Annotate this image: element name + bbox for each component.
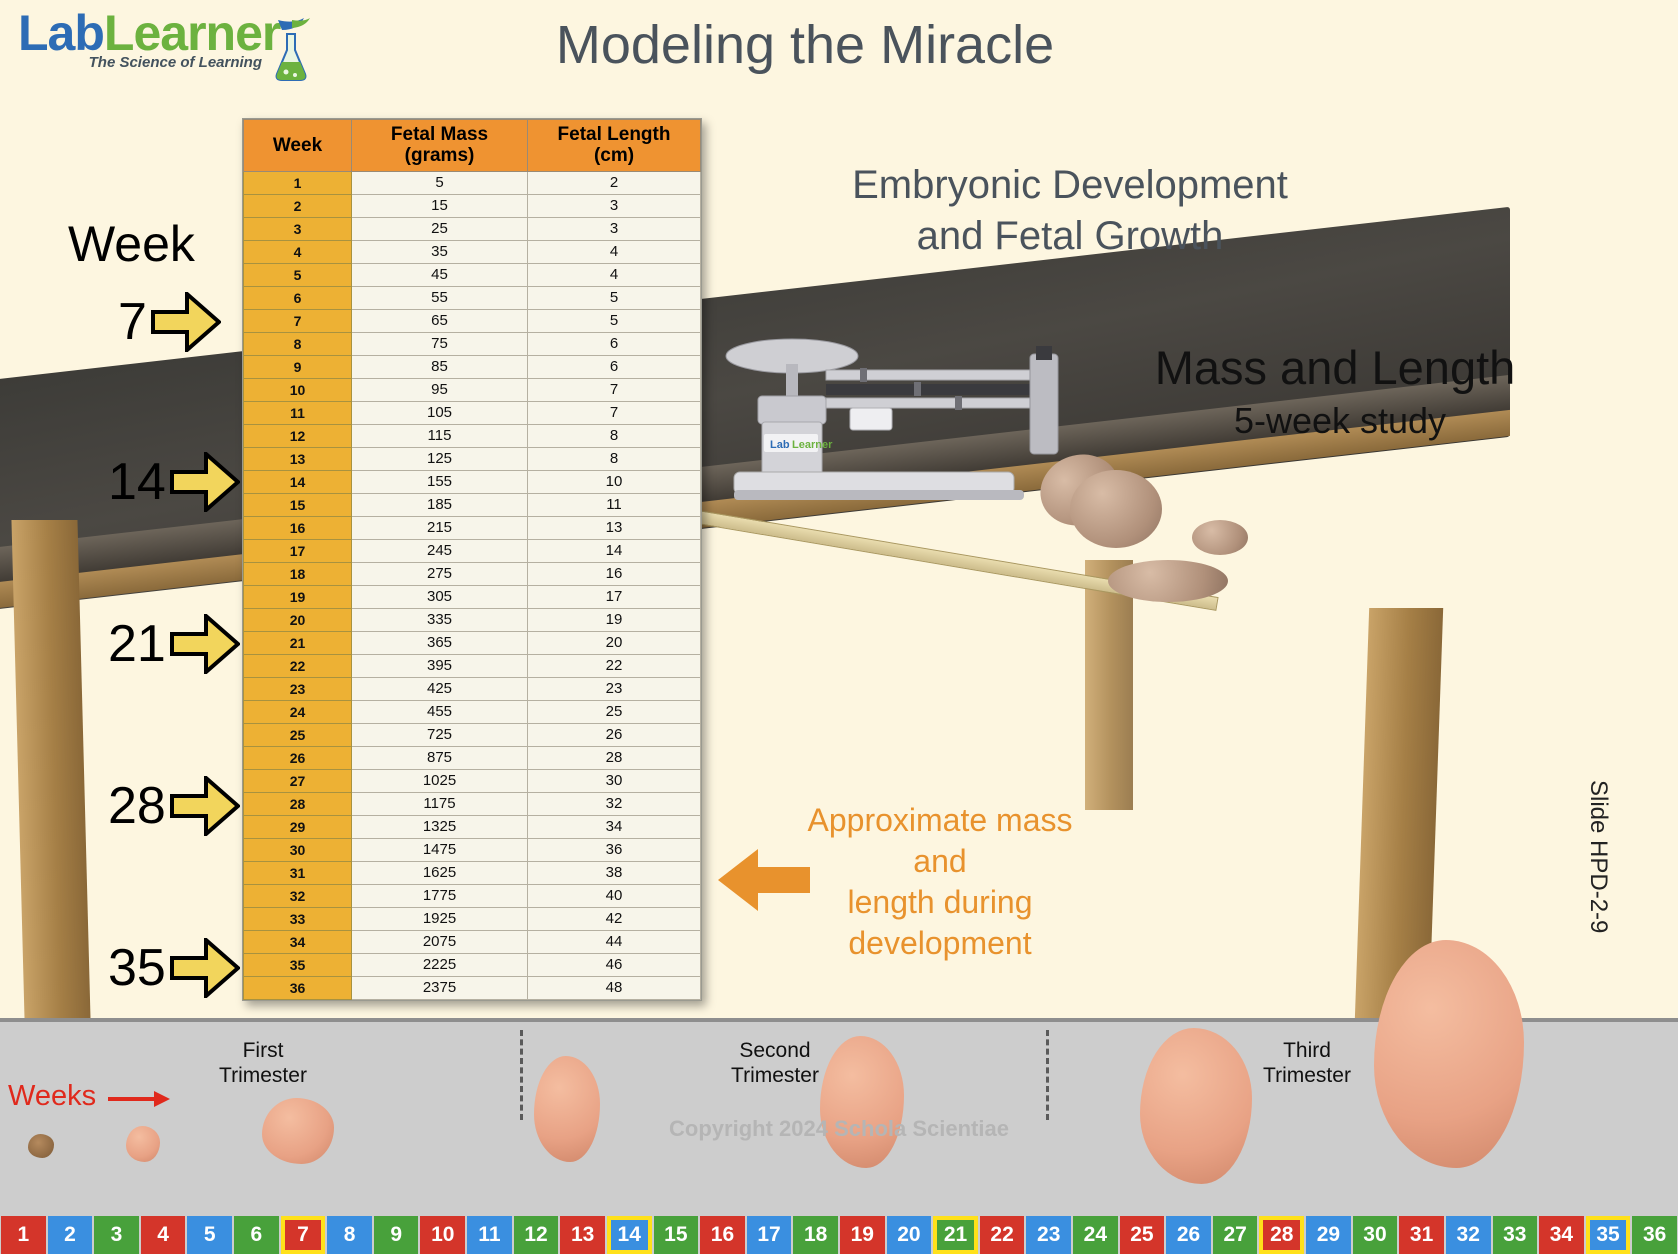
table-cell-mass: 125 <box>352 447 528 470</box>
specimen-rock <box>1192 520 1248 555</box>
table-cell-length: 38 <box>528 861 701 884</box>
table-cell-week: 30 <box>244 838 352 861</box>
table-row: 2342523 <box>244 677 701 700</box>
annotation-approximate-mass-length: Approximate mass and length during devel… <box>790 800 1090 964</box>
table-cell-length: 6 <box>528 355 701 378</box>
table-row: 28117532 <box>244 792 701 815</box>
table-cell-mass: 85 <box>352 355 528 378</box>
table-cell-week: 20 <box>244 608 352 631</box>
table-cell-length: 4 <box>528 240 701 263</box>
table-cell-length: 26 <box>528 723 701 746</box>
week-cell-10[interactable]: 10 <box>420 1216 465 1254</box>
table-cell-mass: 185 <box>352 493 528 516</box>
table-row: 8756 <box>244 332 701 355</box>
table-cell-week: 26 <box>244 746 352 769</box>
table-cell-week: 23 <box>244 677 352 700</box>
slide-code-label: Slide HPD-2-9 <box>1584 780 1612 933</box>
table-cell-length: 8 <box>528 424 701 447</box>
table-cell-mass: 55 <box>352 286 528 309</box>
table-cell-length: 22 <box>528 654 701 677</box>
subtitle-line-2: and Fetal Growth <box>790 211 1350 262</box>
table-row: 32177540 <box>244 884 701 907</box>
week-cell-8[interactable]: 8 <box>327 1216 372 1254</box>
table-cell-mass: 725 <box>352 723 528 746</box>
gestation-timeline: First Trimester Second Trimester Third T… <box>0 1018 1678 1254</box>
table-cell-length: 32 <box>528 792 701 815</box>
week-cell-3[interactable]: 3 <box>94 1216 139 1254</box>
week-cell-2[interactable]: 2 <box>48 1216 93 1254</box>
fetus-figure-week28 <box>1140 1028 1252 1184</box>
table-row: 35222546 <box>244 953 701 976</box>
table-row: 131258 <box>244 447 701 470</box>
table-cell-length: 5 <box>528 309 701 332</box>
right-arrow-icon <box>108 1090 170 1108</box>
table-cell-mass: 2375 <box>352 976 528 999</box>
trimester-label-first: First Trimester <box>178 1038 348 1088</box>
table-row: 2153 <box>244 194 701 217</box>
table-cell-length: 6 <box>528 332 701 355</box>
table-cell-week: 34 <box>244 930 352 953</box>
table-cell-week: 3 <box>244 217 352 240</box>
lablearner-logo: LabLearner The Science of Learning <box>18 8 318 90</box>
table-cell-week: 16 <box>244 516 352 539</box>
table-cell-mass: 15 <box>352 194 528 217</box>
table-cell-length: 5 <box>528 286 701 309</box>
table-row: 27102530 <box>244 769 701 792</box>
table-cell-week: 13 <box>244 447 352 470</box>
table-cell-week: 1 <box>244 171 352 194</box>
table-row: 1827516 <box>244 562 701 585</box>
table-row: 2687528 <box>244 746 701 769</box>
table-cell-week: 33 <box>244 907 352 930</box>
table-cell-length: 2 <box>528 171 701 194</box>
table-cell-week: 4 <box>244 240 352 263</box>
table-cell-length: 14 <box>528 539 701 562</box>
table-cell-week: 17 <box>244 539 352 562</box>
table-cell-week: 18 <box>244 562 352 585</box>
right-arrow-icon <box>151 292 221 352</box>
table-cell-length: 19 <box>528 608 701 631</box>
svg-text:Lab: Lab <box>770 439 790 451</box>
table-cell-length: 20 <box>528 631 701 654</box>
table-cell-mass: 875 <box>352 746 528 769</box>
week-cell-24[interactable]: 24 <box>1073 1216 1118 1254</box>
table-header-row: Week Fetal Mass (grams) Fetal Length (cm… <box>244 120 701 172</box>
table-cell-mass: 305 <box>352 585 528 608</box>
week-cell-27[interactable]: 27 <box>1213 1216 1258 1254</box>
logo-lab-text: Lab <box>18 5 104 61</box>
week-cell-1[interactable]: 1 <box>1 1216 46 1254</box>
table-cell-mass: 65 <box>352 309 528 332</box>
week-callout-28: 28 <box>108 776 240 836</box>
table-row: 3253 <box>244 217 701 240</box>
table-cell-mass: 115 <box>352 424 528 447</box>
table-cell-mass: 335 <box>352 608 528 631</box>
heading-mass-and-length: Mass and Length <box>1120 340 1550 395</box>
week-cell-18[interactable]: 18 <box>793 1216 838 1254</box>
week-cell-21[interactable]: 21 <box>933 1216 978 1254</box>
trimester-divider <box>520 1030 523 1120</box>
table-cell-week: 27 <box>244 769 352 792</box>
table-cell-mass: 215 <box>352 516 528 539</box>
week-callout-number: 14 <box>108 456 166 508</box>
table-cell-week: 8 <box>244 332 352 355</box>
week-cell-17[interactable]: 17 <box>747 1216 792 1254</box>
specimen-rock <box>1108 560 1228 602</box>
week-callout-number: 21 <box>108 618 166 670</box>
page-title: Modeling the Miracle <box>505 14 1105 76</box>
table-row: 1724514 <box>244 539 701 562</box>
table-cell-week: 7 <box>244 309 352 332</box>
right-arrow-icon <box>170 614 240 674</box>
table-cell-length: 30 <box>528 769 701 792</box>
table-cell-length: 16 <box>528 562 701 585</box>
week-number-strip: 1234567891011121314151617181920212223242… <box>0 1216 1678 1254</box>
week-cell-11[interactable]: 11 <box>467 1216 512 1254</box>
table-cell-week: 2 <box>244 194 352 217</box>
table-cell-length: 40 <box>528 884 701 907</box>
trimester-divider <box>1046 1030 1049 1120</box>
table-cell-week: 5 <box>244 263 352 286</box>
week-callout-14: 14 <box>108 452 240 512</box>
table-cell-length: 25 <box>528 700 701 723</box>
week-cell-15[interactable]: 15 <box>654 1216 699 1254</box>
table-row: 1518511 <box>244 493 701 516</box>
slide-canvas: Lab Learner LabLearner The Science of Le… <box>0 0 1678 1254</box>
week-cell-12[interactable]: 12 <box>514 1216 559 1254</box>
table-cell-week: 12 <box>244 424 352 447</box>
table-cell-mass: 25 <box>352 217 528 240</box>
table-cell-length: 8 <box>528 447 701 470</box>
copyright-text: Copyright 2024 Schola Scientiae <box>0 1116 1678 1142</box>
table-cell-week: 9 <box>244 355 352 378</box>
week-cell-28[interactable]: 28 <box>1259 1216 1304 1254</box>
table-row: 9856 <box>244 355 701 378</box>
table-cell-mass: 1175 <box>352 792 528 815</box>
column-header-mass-line2: (grams) <box>354 145 525 166</box>
table-cell-length: 42 <box>528 907 701 930</box>
fetus-figure-week20 <box>820 1036 904 1168</box>
right-arrow-icon <box>170 938 240 998</box>
week-cell-13[interactable]: 13 <box>560 1216 605 1254</box>
table-cell-mass: 5 <box>352 171 528 194</box>
table-cell-week: 28 <box>244 792 352 815</box>
table-cell-mass: 95 <box>352 378 528 401</box>
table-cell-mass: 155 <box>352 470 528 493</box>
table-cell-length: 7 <box>528 401 701 424</box>
table-cell-mass: 1625 <box>352 861 528 884</box>
table-cell-week: 32 <box>244 884 352 907</box>
table-cell-length: 23 <box>528 677 701 700</box>
week-callout-number: 28 <box>108 780 166 832</box>
table-cell-week: 31 <box>244 861 352 884</box>
fetus-figure-week13 <box>534 1056 600 1162</box>
table-cell-length: 7 <box>528 378 701 401</box>
table-cell-mass: 1325 <box>352 815 528 838</box>
week-cell-14[interactable]: 14 <box>607 1216 652 1254</box>
table-cell-length: 4 <box>528 263 701 286</box>
table-cell-week: 35 <box>244 953 352 976</box>
column-header-length-line2: (cm) <box>530 145 698 166</box>
table-row: 30147536 <box>244 838 701 861</box>
table-cell-mass: 75 <box>352 332 528 355</box>
week-cell-30[interactable]: 30 <box>1353 1216 1398 1254</box>
table-row: 31162538 <box>244 861 701 884</box>
week-cell-7[interactable]: 7 <box>281 1216 326 1254</box>
heading-study-duration: 5-week study <box>1190 400 1490 442</box>
right-arrow-icon <box>170 776 240 836</box>
week-cell-29[interactable]: 29 <box>1306 1216 1351 1254</box>
logo-learner-text: Learner <box>104 5 280 61</box>
table-row: 1415510 <box>244 470 701 493</box>
week-callout-number: 7 <box>118 296 147 348</box>
table-cell-week: 15 <box>244 493 352 516</box>
week-cell-20[interactable]: 20 <box>887 1216 932 1254</box>
table-row: 2572526 <box>244 723 701 746</box>
weeks-axis-label: Weeks <box>8 1080 96 1113</box>
week-callout-title: Week <box>68 215 195 273</box>
week-cell-26[interactable]: 26 <box>1166 1216 1211 1254</box>
week-callout-number: 35 <box>108 942 166 994</box>
table-cell-mass: 1775 <box>352 884 528 907</box>
table-leg-back <box>1085 560 1133 810</box>
annotation-line-3: development <box>790 923 1090 964</box>
week-cell-25[interactable]: 25 <box>1120 1216 1165 1254</box>
week-cell-36[interactable]: 36 <box>1632 1216 1677 1254</box>
table-cell-week: 10 <box>244 378 352 401</box>
table-body: 1522153325343545454655576558756985610957… <box>244 171 701 999</box>
table-row: 2445525 <box>244 700 701 723</box>
week-callout-35: 35 <box>108 938 240 998</box>
fetal-growth-table: Week Fetal Mass (grams) Fetal Length (cm… <box>242 118 702 1001</box>
week-cell-33[interactable]: 33 <box>1493 1216 1538 1254</box>
column-header-length-line1: Fetal Length <box>530 124 698 145</box>
table-cell-length: 11 <box>528 493 701 516</box>
table-cell-mass: 35 <box>352 240 528 263</box>
table-row: 4354 <box>244 240 701 263</box>
table-cell-length: 46 <box>528 953 701 976</box>
table-cell-week: 22 <box>244 654 352 677</box>
table-row: 33192542 <box>244 907 701 930</box>
week-cell-5[interactable]: 5 <box>187 1216 232 1254</box>
subtitle-line-1: Embryonic Development <box>790 160 1350 211</box>
column-header-fetal-length: Fetal Length (cm) <box>528 120 701 172</box>
table-cell-mass: 1025 <box>352 769 528 792</box>
week-cell-23[interactable]: 23 <box>1026 1216 1071 1254</box>
table-cell-week: 29 <box>244 815 352 838</box>
table-row: 2239522 <box>244 654 701 677</box>
triple-beam-balance: Lab Learner <box>700 330 1120 530</box>
table-cell-mass: 455 <box>352 700 528 723</box>
table-leg-left <box>11 520 90 1020</box>
table-cell-length: 28 <box>528 746 701 769</box>
table-cell-length: 48 <box>528 976 701 999</box>
table-cell-mass: 2075 <box>352 930 528 953</box>
table-cell-mass: 365 <box>352 631 528 654</box>
table-row: 6555 <box>244 286 701 309</box>
table-cell-week: 25 <box>244 723 352 746</box>
week-cell-31[interactable]: 31 <box>1399 1216 1444 1254</box>
week-cell-35[interactable]: 35 <box>1586 1216 1631 1254</box>
table-row: 29132534 <box>244 815 701 838</box>
subtitle-embryonic-development: Embryonic Development and Fetal Growth <box>790 160 1350 262</box>
table-cell-length: 3 <box>528 217 701 240</box>
table-cell-week: 14 <box>244 470 352 493</box>
table-cell-mass: 1925 <box>352 907 528 930</box>
table-cell-mass: 245 <box>352 539 528 562</box>
table-cell-mass: 2225 <box>352 953 528 976</box>
table-cell-mass: 1475 <box>352 838 528 861</box>
table-row: 34207544 <box>244 930 701 953</box>
table-cell-mass: 105 <box>352 401 528 424</box>
table-cell-week: 19 <box>244 585 352 608</box>
column-header-fetal-mass: Fetal Mass (grams) <box>352 120 528 172</box>
svg-text:Learner: Learner <box>792 439 833 451</box>
table-row: 111057 <box>244 401 701 424</box>
table-row: 10957 <box>244 378 701 401</box>
table-row: 152 <box>244 171 701 194</box>
table-cell-length: 36 <box>528 838 701 861</box>
table-cell-week: 11 <box>244 401 352 424</box>
annotation-line-2: length during <box>790 882 1090 923</box>
week-cell-4[interactable]: 4 <box>141 1216 186 1254</box>
week-callout-7: 7 <box>118 292 221 352</box>
column-header-week: Week <box>244 120 352 172</box>
column-header-mass-line1: Fetal Mass <box>354 124 525 145</box>
week-cell-19[interactable]: 19 <box>840 1216 885 1254</box>
table-cell-mass: 395 <box>352 654 528 677</box>
week-cell-9[interactable]: 9 <box>374 1216 419 1254</box>
table-row: 2136520 <box>244 631 701 654</box>
table-cell-week: 21 <box>244 631 352 654</box>
table-cell-length: 17 <box>528 585 701 608</box>
table-cell-mass: 275 <box>352 562 528 585</box>
table-cell-week: 6 <box>244 286 352 309</box>
flask-icon <box>268 14 314 86</box>
table-cell-length: 10 <box>528 470 701 493</box>
week-cell-6[interactable]: 6 <box>234 1216 279 1254</box>
table-row: 121158 <box>244 424 701 447</box>
right-arrow-icon <box>170 452 240 512</box>
week-cell-34[interactable]: 34 <box>1539 1216 1584 1254</box>
table-cell-length: 44 <box>528 930 701 953</box>
table-row: 36237548 <box>244 976 701 999</box>
table-cell-week: 24 <box>244 700 352 723</box>
table-row: 1930517 <box>244 585 701 608</box>
table-cell-week: 36 <box>244 976 352 999</box>
table-row: 5454 <box>244 263 701 286</box>
table-cell-length: 3 <box>528 194 701 217</box>
week-callout-21: 21 <box>108 614 240 674</box>
table-row: 7655 <box>244 309 701 332</box>
annotation-line-1: Approximate mass and <box>790 800 1090 882</box>
table-cell-length: 34 <box>528 815 701 838</box>
table-cell-mass: 45 <box>352 263 528 286</box>
table-row: 2033519 <box>244 608 701 631</box>
table-cell-length: 13 <box>528 516 701 539</box>
week-cell-22[interactable]: 22 <box>980 1216 1025 1254</box>
week-cell-16[interactable]: 16 <box>700 1216 745 1254</box>
table-cell-mass: 425 <box>352 677 528 700</box>
table-row: 1621513 <box>244 516 701 539</box>
week-cell-32[interactable]: 32 <box>1446 1216 1491 1254</box>
